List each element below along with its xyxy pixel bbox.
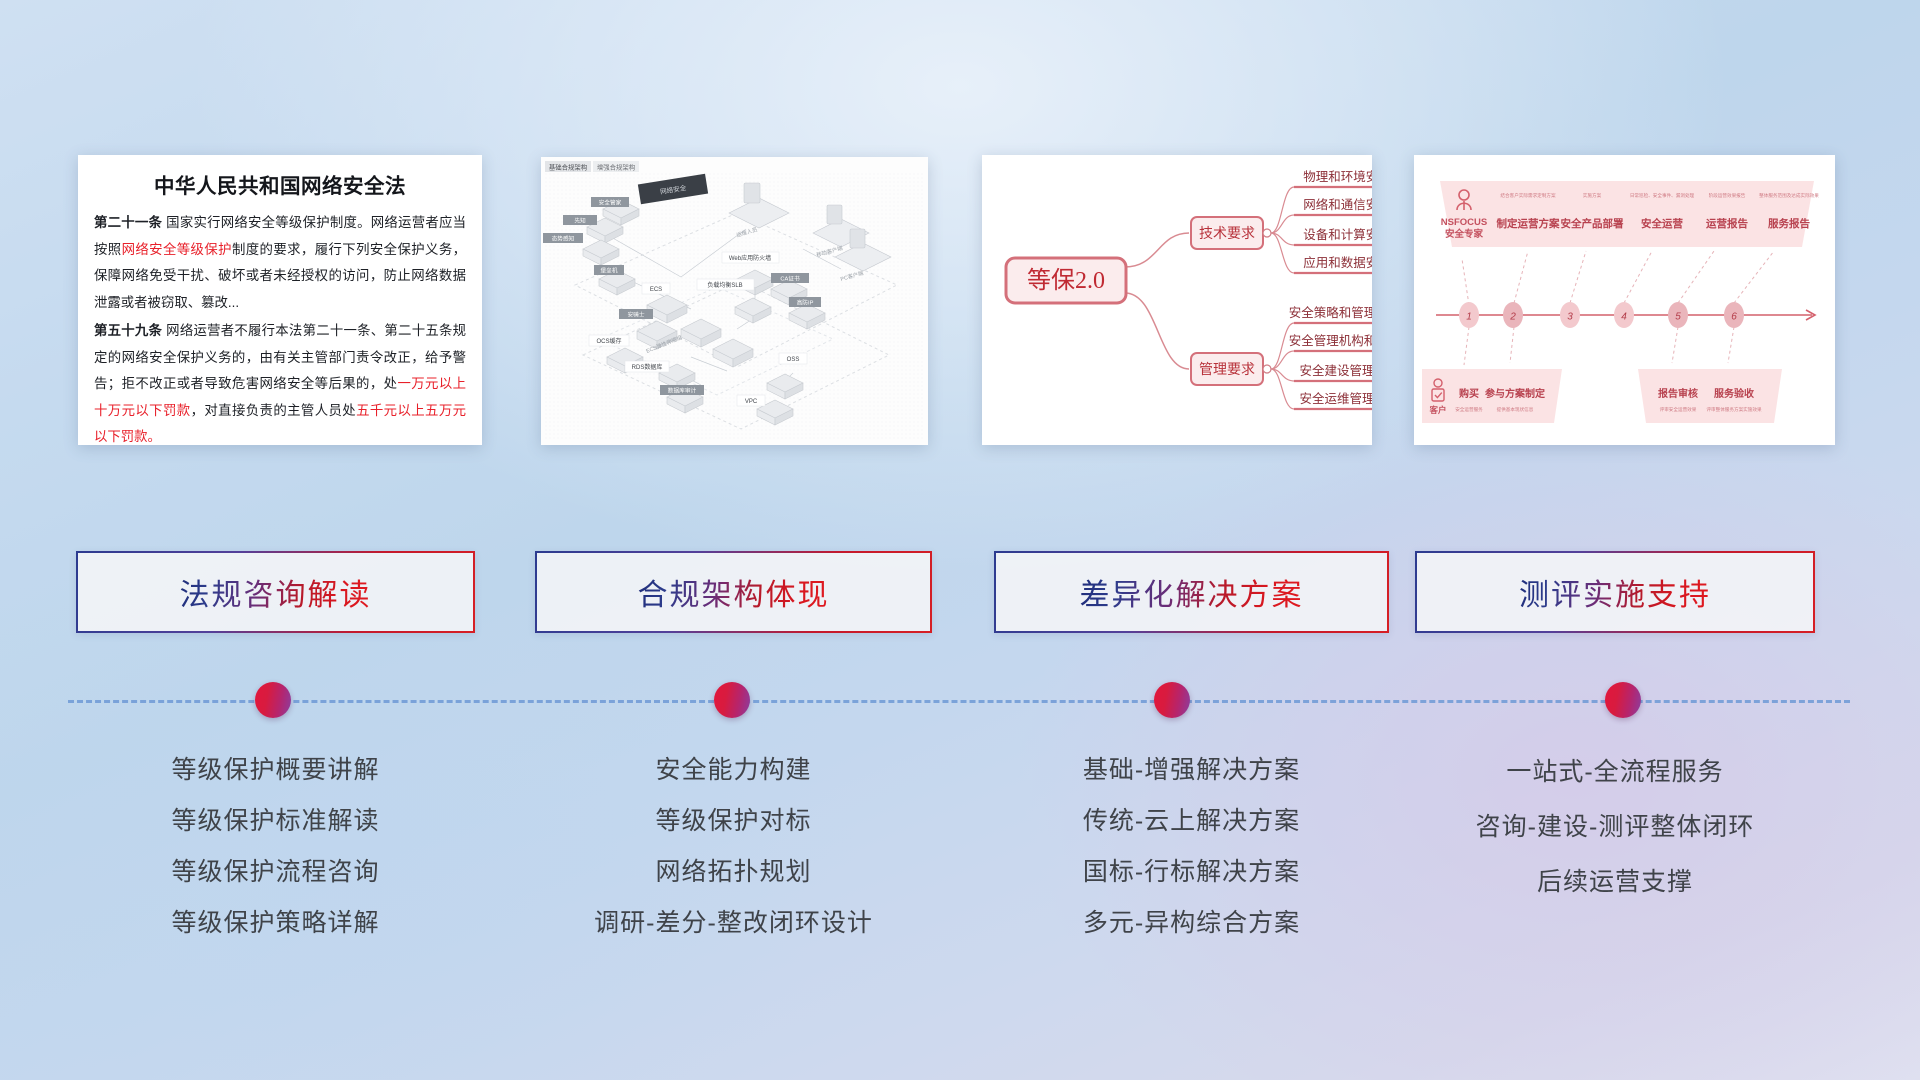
timeline-dot-1[interactable] (255, 682, 291, 718)
law-article-21-label: 第二十一条 (94, 215, 162, 230)
mindmap-branch-management: 管理要求 (1191, 353, 1271, 385)
list-item: 多元-异构综合方案 (994, 898, 1389, 949)
list-item: 传统-云上解决方案 (994, 796, 1389, 847)
svg-text:安全建设管理: 安全建设管理 (1299, 363, 1372, 378)
svg-text:3: 3 (1567, 312, 1573, 323)
law-title: 中华人民共和国网络安全法 (78, 169, 482, 199)
mindmap-branch-technical: 技术要求 (1191, 217, 1271, 249)
law-article-21-highlight: 网络安全等级保护 (122, 242, 232, 257)
svg-text:1: 1 (1466, 312, 1472, 323)
svg-text:安全运营服务: 安全运营服务 (1455, 406, 1483, 413)
law-article-59-text-2: ，对直接负责的主管人员处 (191, 403, 357, 418)
svg-text:负载均衡SLB: 负载均衡SLB (707, 281, 742, 289)
svg-text:RDS数据库: RDS数据库 (632, 363, 663, 371)
svg-text:评审安全运营效果: 评审安全运营效果 (1660, 406, 1697, 413)
svg-text:制定运营方案: 制定运营方案 (1497, 217, 1560, 230)
timeline-dashed-line (68, 700, 1850, 703)
svg-text:CA证书: CA证书 (780, 274, 800, 282)
svg-text:参与方案制定: 参与方案制定 (1485, 387, 1545, 400)
timeline-dot-2[interactable] (714, 682, 750, 718)
thumbnail-card-nsfocus-process[interactable]: NSFOCUS 安全专家 结合客户实际需求定制方案 实施方案 日常巡检、安全事件… (1414, 155, 1835, 445)
svg-text:评审整体服务方案实施效果: 评审整体服务方案实施效果 (1706, 406, 1762, 413)
list-item: 等级保护流程咨询 (76, 847, 475, 898)
svg-text:安全运营: 安全运营 (1641, 217, 1683, 230)
svg-text:运营报告: 运营报告 (1706, 217, 1748, 230)
svg-text:6: 6 (1731, 312, 1737, 323)
svg-text:安全产品部署: 安全产品部署 (1561, 217, 1624, 230)
list-item: 咨询-建设-测评整体闭环 (1415, 800, 1815, 855)
section-heading-label-4: 测评实施支持 (1519, 570, 1711, 614)
svg-text:日常巡检、安全事件、漏洞处理: 日常巡检、安全事件、漏洞处理 (1630, 192, 1695, 199)
list-item: 后续运营支撑 (1415, 855, 1815, 910)
svg-text:安全运维管理: 安全运维管理 (1299, 391, 1372, 406)
svg-text:实施方案: 实施方案 (1583, 192, 1602, 199)
section-heading-label-2: 合规架构体现 (638, 570, 830, 614)
list-item: 国标-行标解决方案 (994, 847, 1389, 898)
svg-text:安全策略和管理制度: 安全策略和管理制度 (1289, 305, 1372, 320)
svg-text:基础合规架构: 基础合规架构 (549, 163, 587, 172)
section-heading-box-3[interactable]: 差异化解决方案 (994, 551, 1389, 633)
arch-tab-enhanced: 增强合规架构 (593, 161, 639, 172)
list-item: 调研-差分-整改闭环设计 (535, 898, 932, 949)
mindmap-root-node: 等保2.0 (1006, 258, 1126, 303)
nsfocus-process-diagram: NSFOCUS 安全专家 结合客户实际需求定制方案 实施方案 日常巡检、安全事件… (1414, 155, 1835, 445)
section-heading-label-1: 法规咨询解读 (180, 570, 372, 614)
svg-text:增强合规架构: 增强合规架构 (597, 163, 635, 172)
timeline-dot-3[interactable] (1154, 682, 1190, 718)
svg-text:等保2.0: 等保2.0 (1027, 267, 1105, 294)
svg-text:5: 5 (1675, 312, 1681, 323)
svg-text:NSFOCUS: NSFOCUS (1441, 217, 1487, 228)
list-item: 一站式-全流程服务 (1415, 745, 1815, 800)
law-article-59: 第五十九条 网络运营者不履行本法第二十一条、第二十五条规定的网络安全保护义务的，… (94, 318, 466, 445)
list-item: 基础-增强解决方案 (994, 745, 1389, 796)
svg-text:安全专家: 安全专家 (1445, 228, 1484, 240)
list-item: 网络拓扑规划 (535, 847, 932, 898)
svg-text:应用和数据安全: 应用和数据安全 (1303, 255, 1372, 270)
nsfocus-top-band (1440, 181, 1814, 247)
svg-text:高防IP: 高防IP (797, 298, 814, 306)
svg-text:OSS: OSS (787, 357, 800, 363)
section-heading-label-3: 差异化解决方案 (1080, 570, 1304, 614)
timeline-dot-4[interactable] (1605, 682, 1641, 718)
svg-text:OCS缓存: OCS缓存 (596, 337, 621, 345)
law-article-59-label: 第五十九条 (94, 323, 162, 338)
architecture-diagram: 基础合规架构 增强合规架构 网络安全 (541, 157, 928, 445)
bullet-column-3: 基础-增强解决方案 传统-云上解决方案 国标-行标解决方案 多元-异构综合方案 (994, 745, 1389, 949)
svg-text:物理和环境安全: 物理和环境安全 (1303, 169, 1372, 184)
svg-text:ECS: ECS (650, 287, 662, 293)
svg-text:报告审核: 报告审核 (1658, 387, 1698, 400)
section-heading-box-1[interactable]: 法规咨询解读 (76, 551, 475, 633)
svg-text:网络和通信安全: 网络和通信安全 (1303, 197, 1372, 212)
svg-text:态势感知: 态势感知 (552, 234, 575, 242)
thumbnail-card-compliance-architecture[interactable]: 基础合规架构 增强合规架构 网络安全 (541, 157, 928, 445)
svg-text:设备和计算安全: 设备和计算安全 (1303, 227, 1372, 242)
law-body: 第二十一条 国家实行网络安全等级保护制度。网络运营者应当按照网络安全等级保护制度… (78, 210, 482, 445)
thumbnail-card-mindmap[interactable]: 等保2.0 技术要求 物理和环境安全 网络和通信安全 设备和计算安全 应用和数据… (982, 155, 1372, 445)
list-item: 安全能力构建 (535, 745, 932, 796)
list-item: 等级保护概要讲解 (76, 745, 475, 796)
svg-text:购买: 购买 (1459, 387, 1479, 400)
mindmap-diagram: 等保2.0 技术要求 物理和环境安全 网络和通信安全 设备和计算安全 应用和数据… (982, 155, 1372, 445)
bullet-column-4: 一站式-全流程服务 咨询-建设-测评整体闭环 后续运营支撑 (1415, 745, 1815, 910)
svg-text:结合客户实际需求定制方案: 结合客户实际需求定制方案 (1500, 192, 1556, 199)
svg-text:Web应用防火墙: Web应用防火墙 (729, 254, 771, 262)
svg-text:提供基本现状信息: 提供基本现状信息 (1497, 406, 1534, 413)
svg-text:VPC: VPC (745, 399, 758, 405)
list-item: 等级保护标准解读 (76, 796, 475, 847)
svg-text:管理要求: 管理要求 (1199, 362, 1255, 378)
svg-text:2: 2 (1509, 312, 1516, 323)
arch-tab-basic: 基础合规架构 (545, 161, 591, 172)
svg-text:服务报告: 服务报告 (1768, 217, 1810, 230)
svg-text:服务验收: 服务验收 (1714, 387, 1754, 400)
svg-text:阶段运营效果报告: 阶段运营效果报告 (1709, 192, 1746, 199)
law-article-21: 第二十一条 国家实行网络安全等级保护制度。网络运营者应当按照网络安全等级保护制度… (94, 210, 466, 316)
svg-text:客户: 客户 (1428, 405, 1446, 415)
svg-text:数据库审计: 数据库审计 (668, 386, 697, 394)
bullet-column-1: 等级保护概要讲解 等级保护标准解读 等级保护流程咨询 等级保护策略详解 (76, 745, 475, 949)
section-heading-box-4[interactable]: 测评实施支持 (1415, 551, 1815, 633)
svg-text:安全管家: 安全管家 (599, 198, 622, 206)
svg-text:堡垒机: 堡垒机 (600, 266, 617, 274)
svg-text:整体服务范围及达成实际效果: 整体服务范围及达成实际效果 (1759, 192, 1819, 199)
svg-text:安全管理机构和人员: 安全管理机构和人员 (1289, 333, 1372, 348)
svg-text:4: 4 (1621, 312, 1627, 323)
svg-text:先知: 先知 (574, 216, 586, 224)
bullet-column-2: 安全能力构建 等级保护对标 网络拓扑规划 调研-差分-整改闭环设计 (535, 745, 932, 949)
svg-text:技术要求: 技术要求 (1199, 226, 1255, 242)
section-heading-box-2[interactable]: 合规架构体现 (535, 551, 932, 633)
list-item: 等级保护策略详解 (76, 898, 475, 949)
svg-text:安骑士: 安骑士 (627, 310, 644, 318)
slide-canvas: 中华人民共和国网络安全法 第二十一条 国家实行网络安全等级保护制度。网络运营者应… (0, 0, 1920, 1080)
thumbnail-card-cybersecurity-law[interactable]: 中华人民共和国网络安全法 第二十一条 国家实行网络安全等级保护制度。网络运营者应… (78, 155, 482, 445)
list-item: 等级保护对标 (535, 796, 932, 847)
